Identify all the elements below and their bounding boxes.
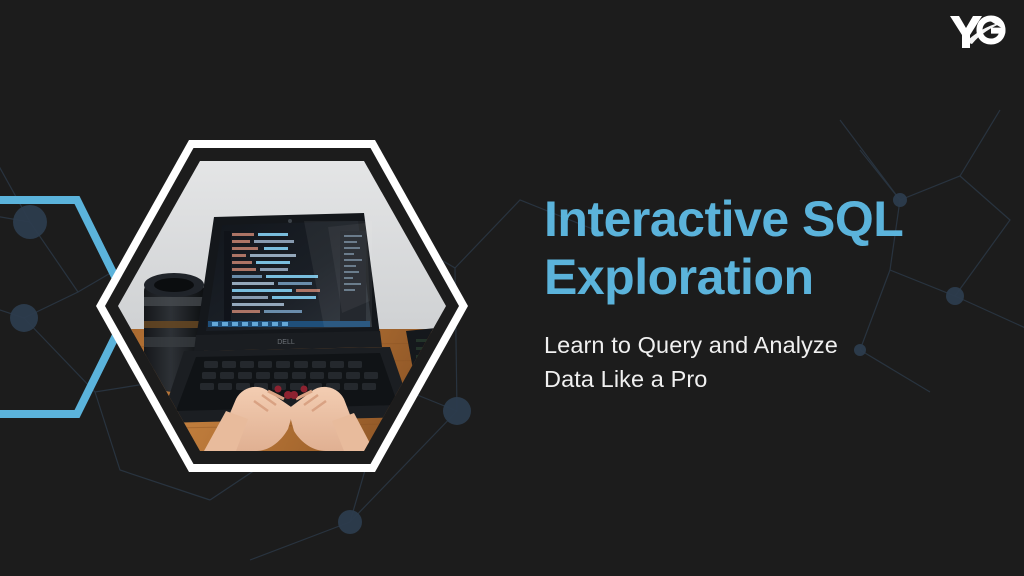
- page-title: Interactive SQL Exploration: [544, 190, 964, 306]
- yg-logo-icon[interactable]: [946, 8, 1008, 56]
- headline-line-1: Interactive SQL: [544, 190, 964, 248]
- hexagon-photo-frame: DELL: [96, 140, 468, 472]
- headline-line-2: Exploration: [544, 248, 964, 306]
- subhead-line-2: Data Like a Pro: [544, 362, 964, 396]
- svg-text:DELL: DELL: [277, 339, 295, 346]
- page-subtitle: Learn to Query and Analyze Data Like a P…: [544, 328, 964, 397]
- slide-text-block: Interactive SQL Exploration Learn to Que…: [544, 190, 964, 397]
- subhead-line-1: Learn to Query and Analyze: [544, 328, 964, 362]
- presentation-slide: DELL: [0, 0, 1024, 576]
- laptop-screen: DELL: [194, 213, 382, 351]
